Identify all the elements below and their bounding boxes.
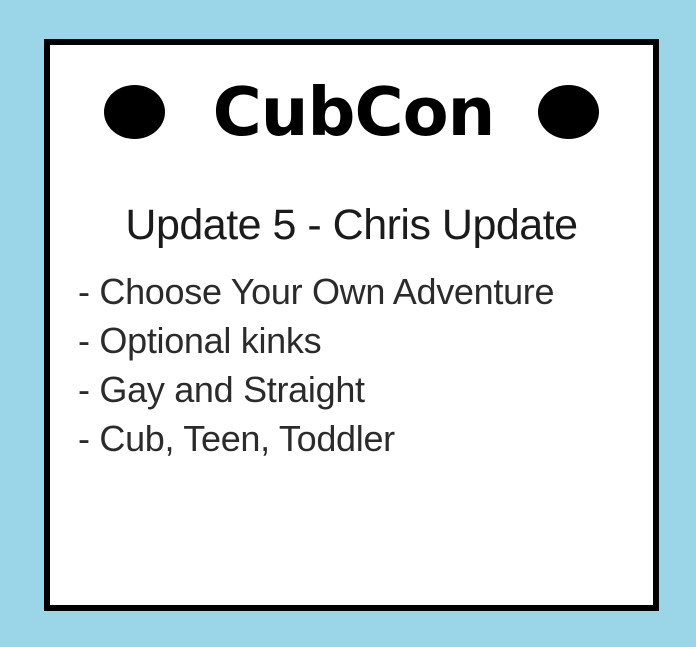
title-row: CubCon: [50, 72, 653, 152]
filled-circle-icon: [104, 85, 165, 139]
list-item: - Cub, Teen, Toddler: [78, 414, 638, 463]
slide-subtitle: Update 5 - Chris Update: [50, 197, 653, 253]
list-item: - Gay and Straight: [78, 365, 638, 414]
list-item: - Optional kinks: [78, 316, 638, 365]
filled-circle-icon: [538, 85, 599, 139]
list-item: - Choose Your Own Adventure: [78, 267, 638, 316]
page-title: CubCon: [213, 72, 495, 152]
slide-card: CubCon Update 5 - Chris Update - Choose …: [44, 39, 659, 611]
bullet-list: - Choose Your Own Adventure - Optional k…: [78, 267, 638, 463]
slide-canvas: CubCon Update 5 - Chris Update - Choose …: [0, 0, 696, 647]
